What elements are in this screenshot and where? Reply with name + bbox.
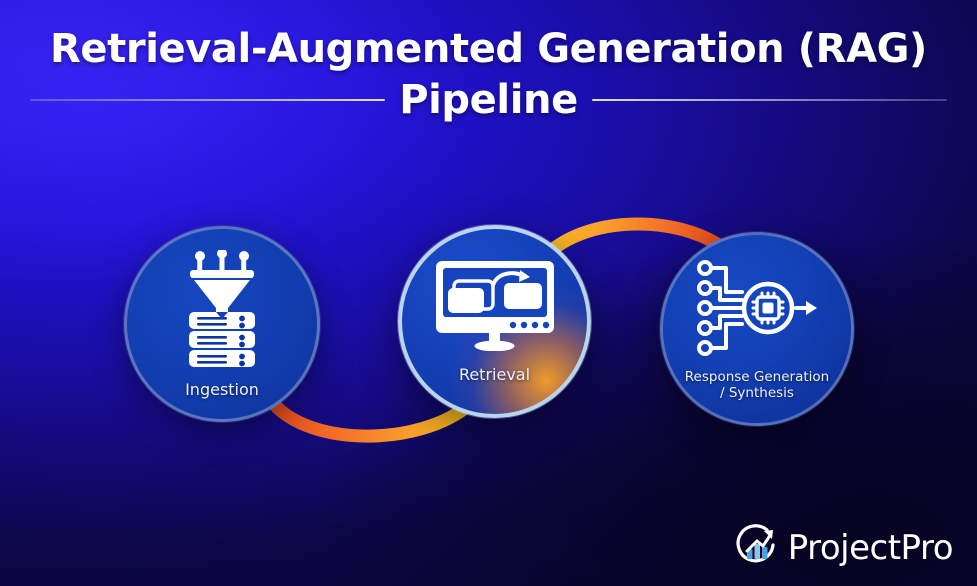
title-second-row: Pipeline (0, 76, 977, 124)
logo-text: ProjectPro (788, 531, 953, 565)
neural-chip-arrow-icon (696, 258, 818, 363)
title-rule-left (30, 99, 385, 101)
stage-label-response-line1: Response Generation (685, 369, 829, 385)
monitor-documents-arrow-icon (434, 259, 556, 356)
funnel-server-icon (185, 250, 259, 373)
title-rule-right (592, 99, 947, 101)
page-title-line1: Retrieval-Augmented Generation (RAG) (0, 26, 977, 72)
projectpro-logo[interactable]: ProjectPro (735, 523, 953, 572)
page-title-line2: Pipeline (399, 76, 578, 124)
stage-label-ingestion: Ingestion (185, 381, 259, 399)
stage-label-retrieval: Retrieval (459, 366, 530, 384)
pipeline-stage-retrieval[interactable]: Retrieval (398, 225, 591, 418)
projectpro-chart-arrow-icon (735, 523, 779, 572)
infographic-canvas: Retrieval-Augmented Generation (RAG) Pip… (0, 0, 977, 586)
stage-label-response-line2: / Synthesis (685, 385, 829, 401)
connector-ingestion-retrieval (268, 396, 470, 436)
pipeline-stage-response-generation[interactable]: Response Generation / Synthesis (660, 232, 854, 426)
stage-label-response-generation: Response Generation / Synthesis (685, 369, 829, 401)
pipeline-stage-ingestion[interactable]: Ingestion (124, 226, 320, 422)
title-block: Retrieval-Augmented Generation (RAG) Pip… (0, 26, 977, 124)
